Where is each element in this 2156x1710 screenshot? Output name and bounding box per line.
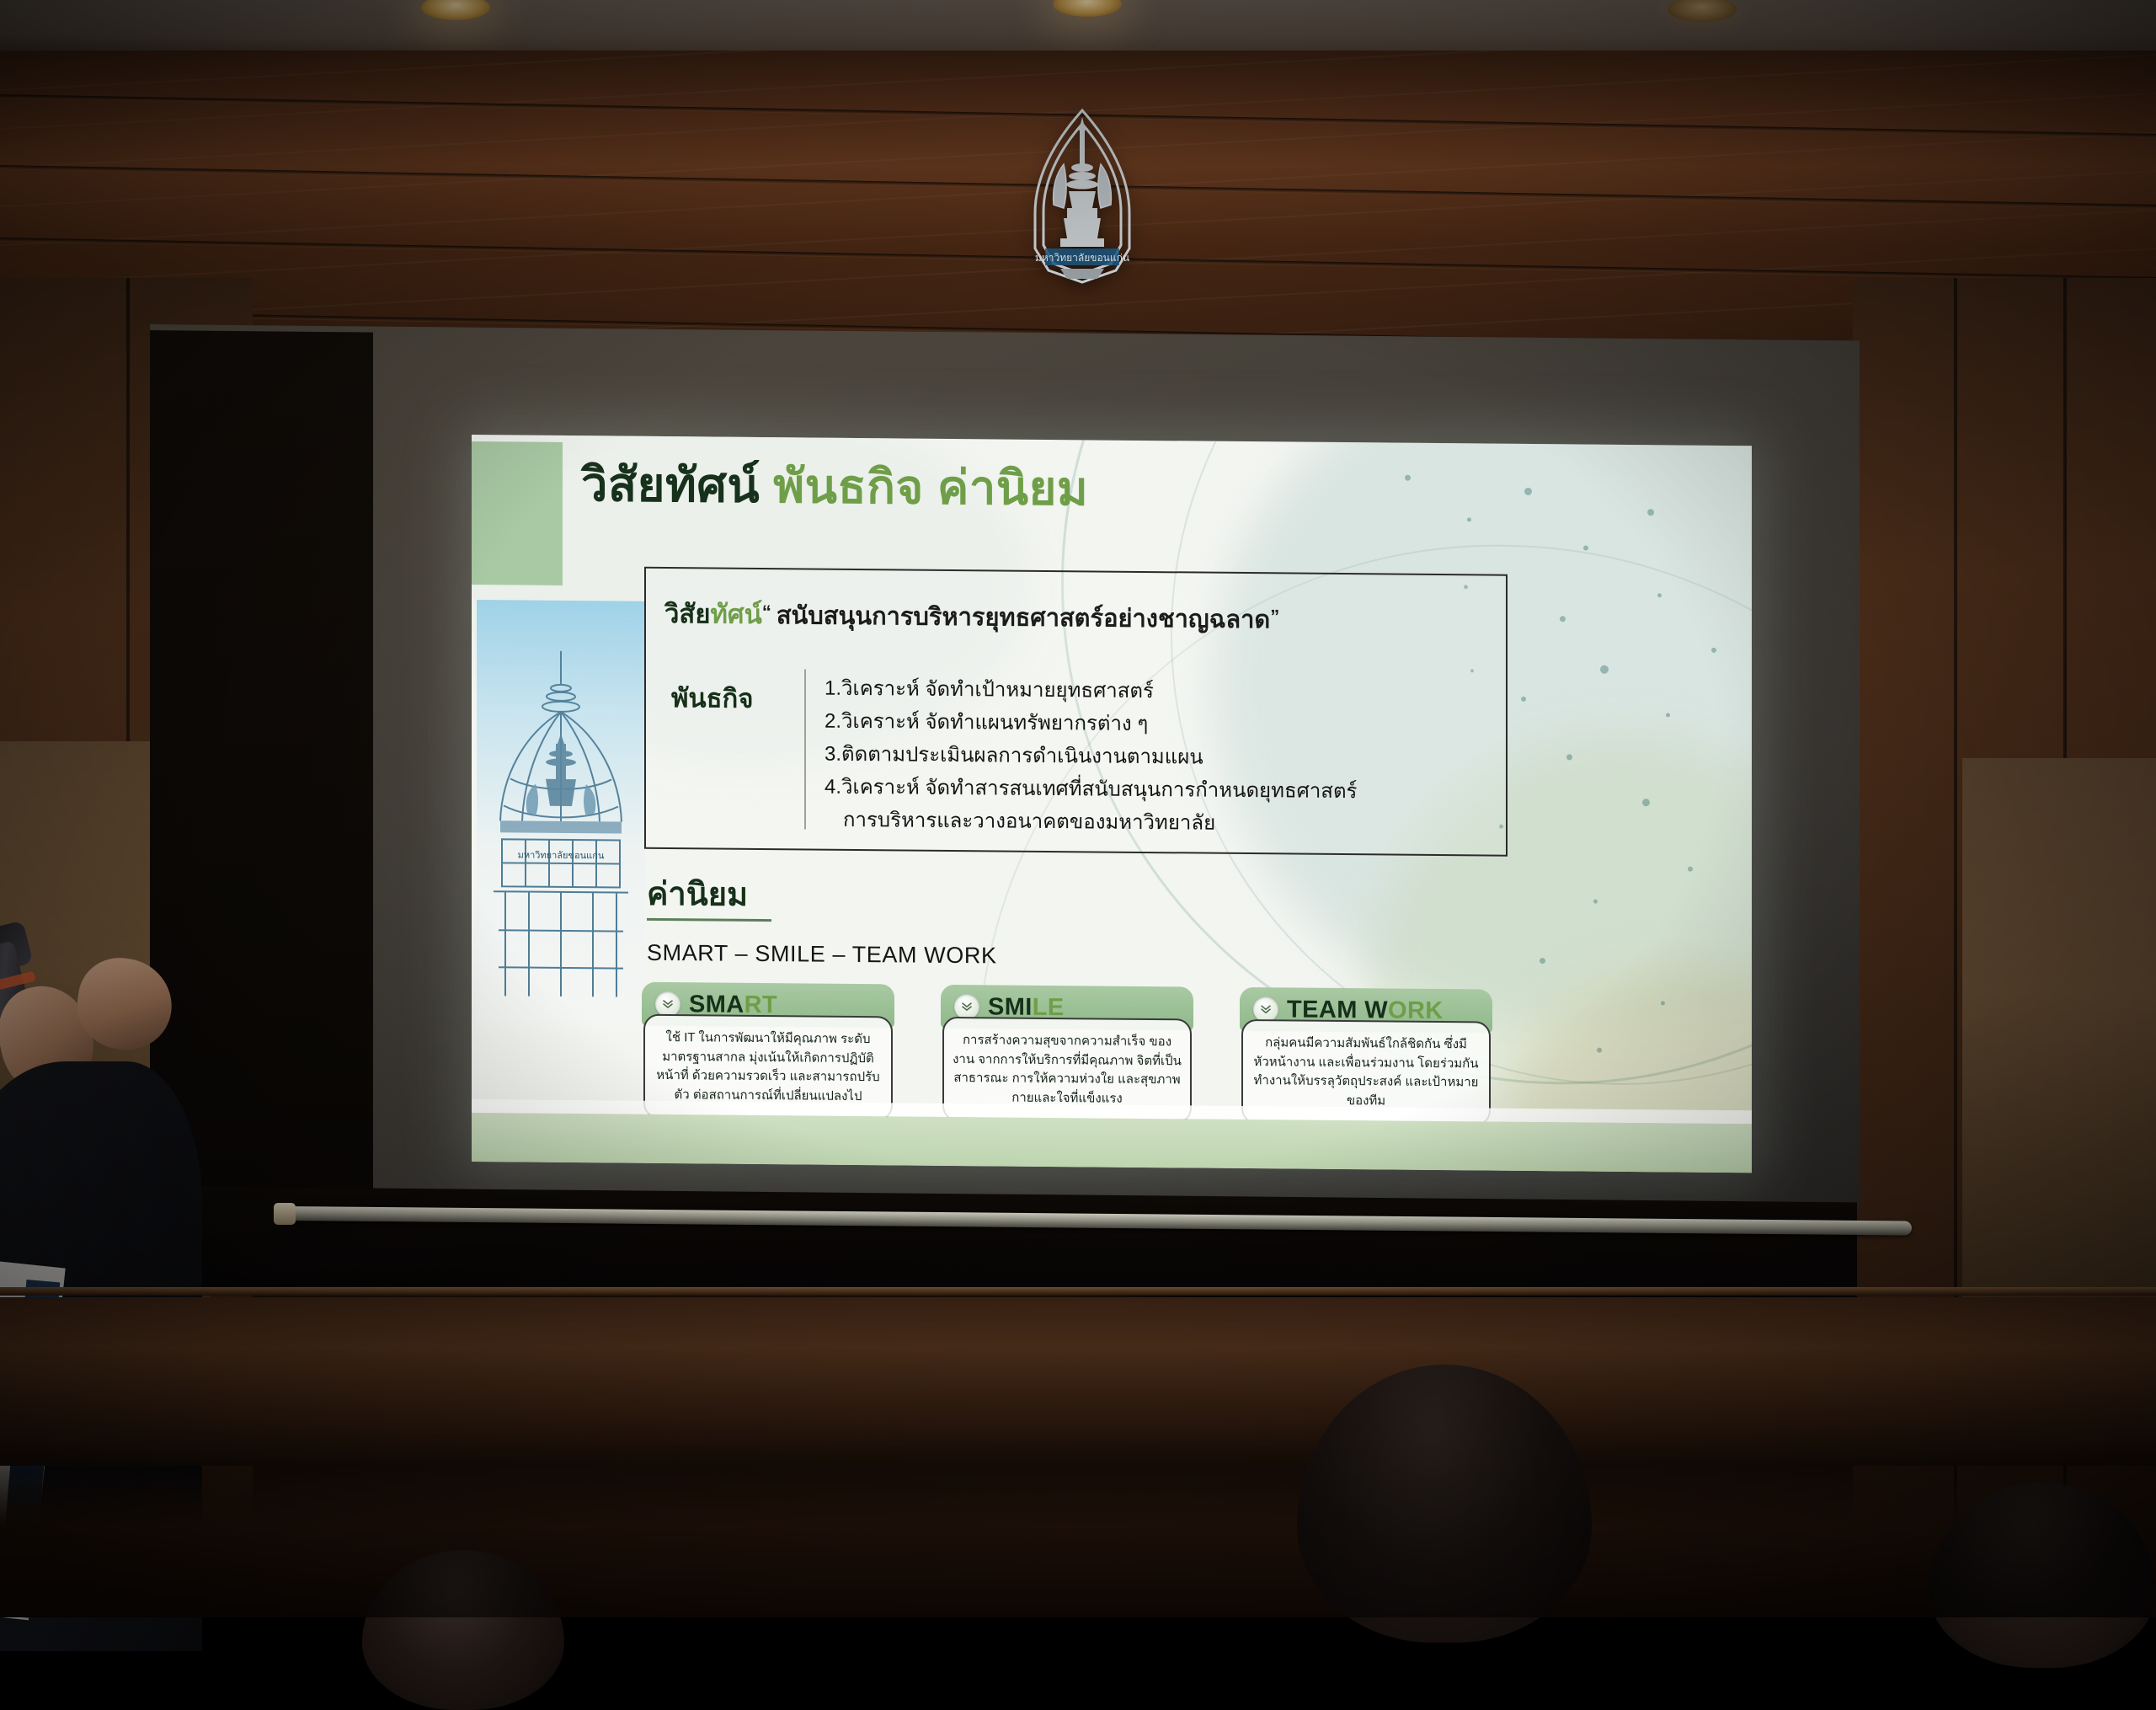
values-heading: ค่านิยม [647, 868, 748, 920]
audience-seating-foreground [0, 1466, 2156, 1617]
vision-label-part1: วิสัย [664, 599, 711, 628]
mission-item: 4.วิเคราะห์ จัดทำสารสนเทศที่สนับสนุนการก… [825, 771, 1357, 808]
tower-photo-caption: มหาวิทยาลัยขอนแก่น [518, 850, 605, 861]
slide-green-accent-block [472, 441, 563, 585]
mission-item: 2.วิเคราะห์ จัดทำแผนทรัพยากรต่าง ๆ [825, 706, 1357, 743]
values-tagline: SMART – SMILE – TEAM WORK [647, 940, 997, 970]
vision-mission-box: วิสัยทัศน์“สนับสนุนการบริหารยุทธศาสตร์อย… [644, 567, 1508, 857]
mission-item: 3.ติดตามประเมินผลการดำเนินงานตามแผน [825, 738, 1357, 775]
screen-lower-dark-band [156, 1186, 1857, 1303]
mission-list: 1.วิเคราะห์ จัดทำเป้าหมายยุทธศาสตร์ 2.วิ… [825, 673, 1357, 842]
emblem-caption: มหาวิทยาลัยขอนแก่น [1035, 252, 1129, 264]
dais-panel [0, 1297, 2156, 1466]
kku-bell-tower-photo: มหาวิทยาลัยขอนแก่น [477, 600, 645, 1031]
khon-kaen-university-emblem: มหาวิทยาลัยขอนแก่น [1023, 105, 1141, 286]
vision-row: วิสัยทัศน์“สนับสนุนการบริหารยุทธศาสตร์อย… [664, 592, 1279, 639]
vision-label: วิสัยทัศน์ [664, 599, 762, 629]
presentation-slide: มหาวิทยาลัยขอนแก่น วิสัยทัศน์ พันธกิจ ค่… [472, 435, 1752, 1173]
slide-title-part2: พันธกิจ ค่านิยม [773, 459, 1088, 515]
vision-quote-close: ” [1270, 606, 1279, 627]
slide-title-part1: วิสัยทัศน์ [581, 457, 773, 512]
screen-weight-bar-cap [274, 1203, 296, 1225]
slide-title: วิสัยทัศน์ พันธกิจ ค่านิยม [581, 459, 1088, 514]
value-card-text: การสร้างความสุขจากความสำเร็จ ของงาน จากก… [953, 1031, 1182, 1109]
mission-label: พันธกิจ [671, 676, 753, 719]
mission-item-continued: การบริหารและวางอนาคตของมหาวิทยาลัย [825, 804, 1357, 841]
laurel-chevron-icon [1253, 997, 1278, 1022]
vision-label-part2: ทัศน์ [711, 599, 762, 629]
vision-text: สนับสนุนการบริหารยุทธศาสตร์อย่างชาญฉลาด [776, 602, 1270, 633]
wall-beige-right [1962, 758, 2156, 1348]
value-card-text: ใช้ IT ในการพัฒนาให้มีคุณภาพ ระดับมาตรฐา… [654, 1029, 883, 1106]
value-card-title-green: LE [1033, 993, 1065, 1020]
lecture-hall-room: มหาวิทยาลัยขอนแก่น [0, 0, 2156, 1617]
dais-edge [0, 1287, 2156, 1296]
laurel-chevron-icon [655, 991, 680, 1017]
vision-quote-open: “ [762, 601, 771, 623]
mission-divider [804, 669, 806, 829]
value-card-text: กลุ่มคนมีความสัมพันธ์ใกล้ชิดกัน ซึ่งมีหั… [1251, 1034, 1481, 1111]
laurel-chevron-icon [954, 994, 979, 1019]
mission-item: 1.วิเคราะห์ จัดทำเป้าหมายยุทธศาสตร์ [825, 673, 1357, 710]
value-card-title-green: RT [744, 991, 777, 1018]
